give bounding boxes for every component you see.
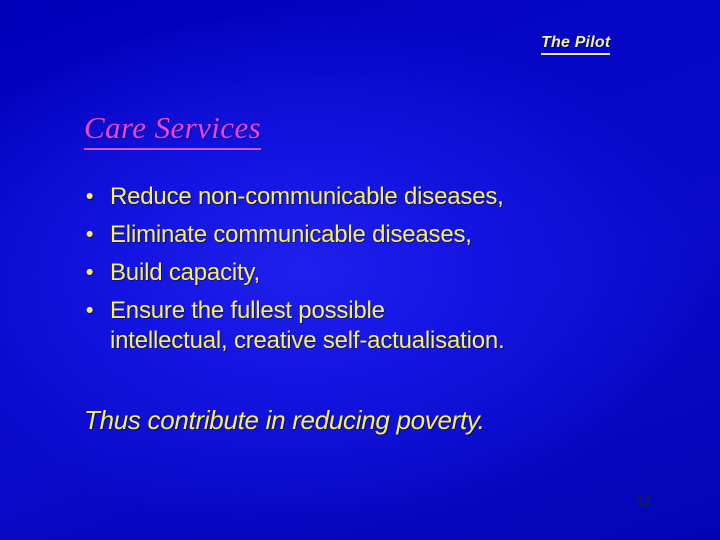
list-item-label: Eliminate communicable diseases,: [110, 220, 686, 250]
slide-header-title-text: The Pilot: [541, 34, 610, 51]
list-item-line-continuation: intellectual, creative self-actualisatio…: [110, 326, 686, 356]
list-item-label: Ensure the fullest possible intellectual…: [110, 296, 686, 356]
page-number: 11: [636, 492, 676, 509]
page-title-text: Care Services: [84, 110, 261, 145]
list-item-label: Build capacity,: [110, 258, 686, 288]
bullet-point-icon: •: [86, 182, 110, 212]
list-item: • Build capacity,: [86, 258, 686, 288]
bullet-point-icon: •: [86, 258, 110, 288]
bullet-list: • Reduce non-communicable diseases, • El…: [86, 182, 686, 364]
list-item-line-primary: Eliminate communicable diseases,: [110, 221, 472, 248]
slide-header-underline: [541, 53, 610, 55]
list-item-label: Reduce non-communicable diseases,: [110, 182, 686, 212]
list-item-line-primary: Ensure the fullest possible: [110, 297, 385, 324]
closing-statement: Thus contribute in reducing poverty.: [84, 405, 485, 436]
slide-header-title: The Pilot: [541, 34, 610, 55]
slide-canvas: The Pilot Care Services • Reduce non-com…: [0, 0, 720, 540]
list-item: • Eliminate communicable diseases,: [86, 220, 686, 250]
bullet-point-icon: •: [86, 220, 110, 250]
bullet-point-icon: •: [86, 296, 110, 326]
page-title: Care Services: [84, 110, 261, 150]
list-item: • Reduce non-communicable diseases,: [86, 182, 686, 212]
list-item: • Ensure the fullest possible intellectu…: [86, 296, 686, 356]
list-item-line-primary: Build capacity,: [110, 259, 260, 286]
list-item-line-primary: Reduce non-communicable diseases,: [110, 183, 504, 210]
page-title-underline: [84, 148, 261, 150]
